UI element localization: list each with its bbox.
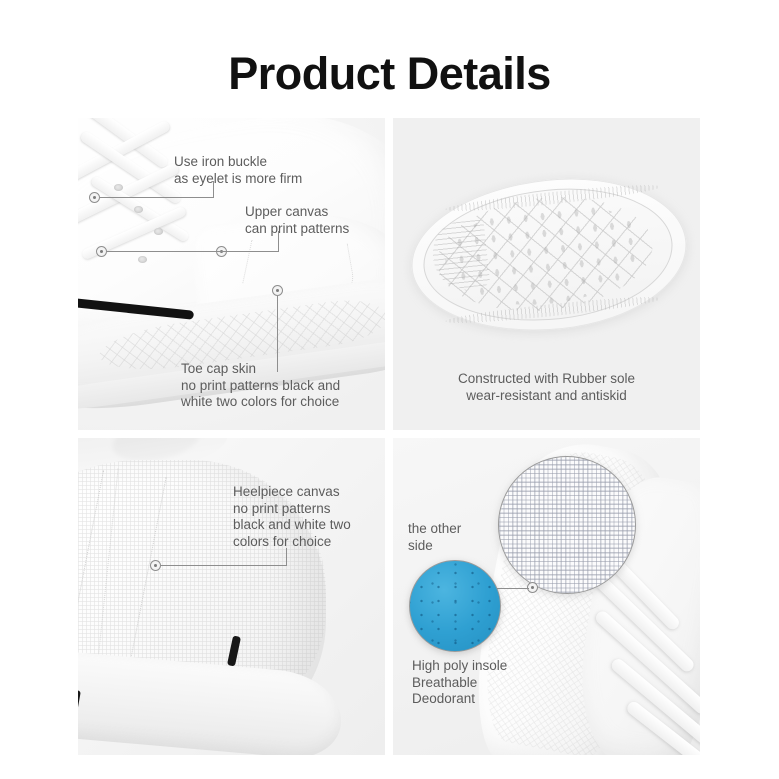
eyelet — [154, 228, 163, 235]
panel-grid: Use iron buckle as eyelet is more firm U… — [78, 118, 700, 755]
page-title: Product Details — [0, 48, 779, 100]
label-the-other-side: the other side — [408, 521, 461, 554]
leader-line — [107, 251, 278, 252]
product-details-infographic: Product Details — [0, 0, 779, 779]
callout-marker-heelpiece-canvas — [150, 560, 161, 571]
caption-rubber-sole: Constructed with Rubber sole wear-resist… — [393, 370, 700, 404]
eyelet — [114, 184, 123, 191]
callout-text-toe-cap: Toe cap skin no print patterns black and… — [181, 361, 340, 411]
panel-rubber-outsole: Constructed with Rubber sole wear-resist… — [393, 118, 700, 430]
callout-text-iron-buckle: Use iron buckle as eyelet is more firm — [174, 154, 302, 187]
panel-upper-side-view: Use iron buckle as eyelet is more firm U… — [78, 118, 385, 430]
callout-text-upper-canvas: Upper canvas can print patterns — [245, 204, 349, 237]
leader-line — [161, 565, 286, 566]
callout-marker-toe-cap — [272, 285, 283, 296]
blue-insole-swatch-circle — [409, 560, 501, 652]
label-high-poly-insole: High poly insole Breathable Deodorant — [412, 658, 507, 708]
panel-insole-detail: the other side High poly insole Breathab… — [393, 438, 700, 755]
eyelet — [138, 256, 147, 263]
mesh-swatch-circle — [498, 456, 636, 594]
callout-marker-upper-canvas-left — [96, 246, 107, 257]
callout-marker-iron-buckle — [89, 192, 100, 203]
eyelet — [134, 206, 143, 213]
leader-line — [286, 548, 287, 566]
leader-line — [497, 588, 529, 589]
panel-heelpiece: Heelpiece canvas no print patterns black… — [78, 438, 385, 755]
callout-text-heelpiece-canvas: Heelpiece canvas no print patterns black… — [233, 484, 351, 550]
leader-line — [100, 197, 213, 198]
